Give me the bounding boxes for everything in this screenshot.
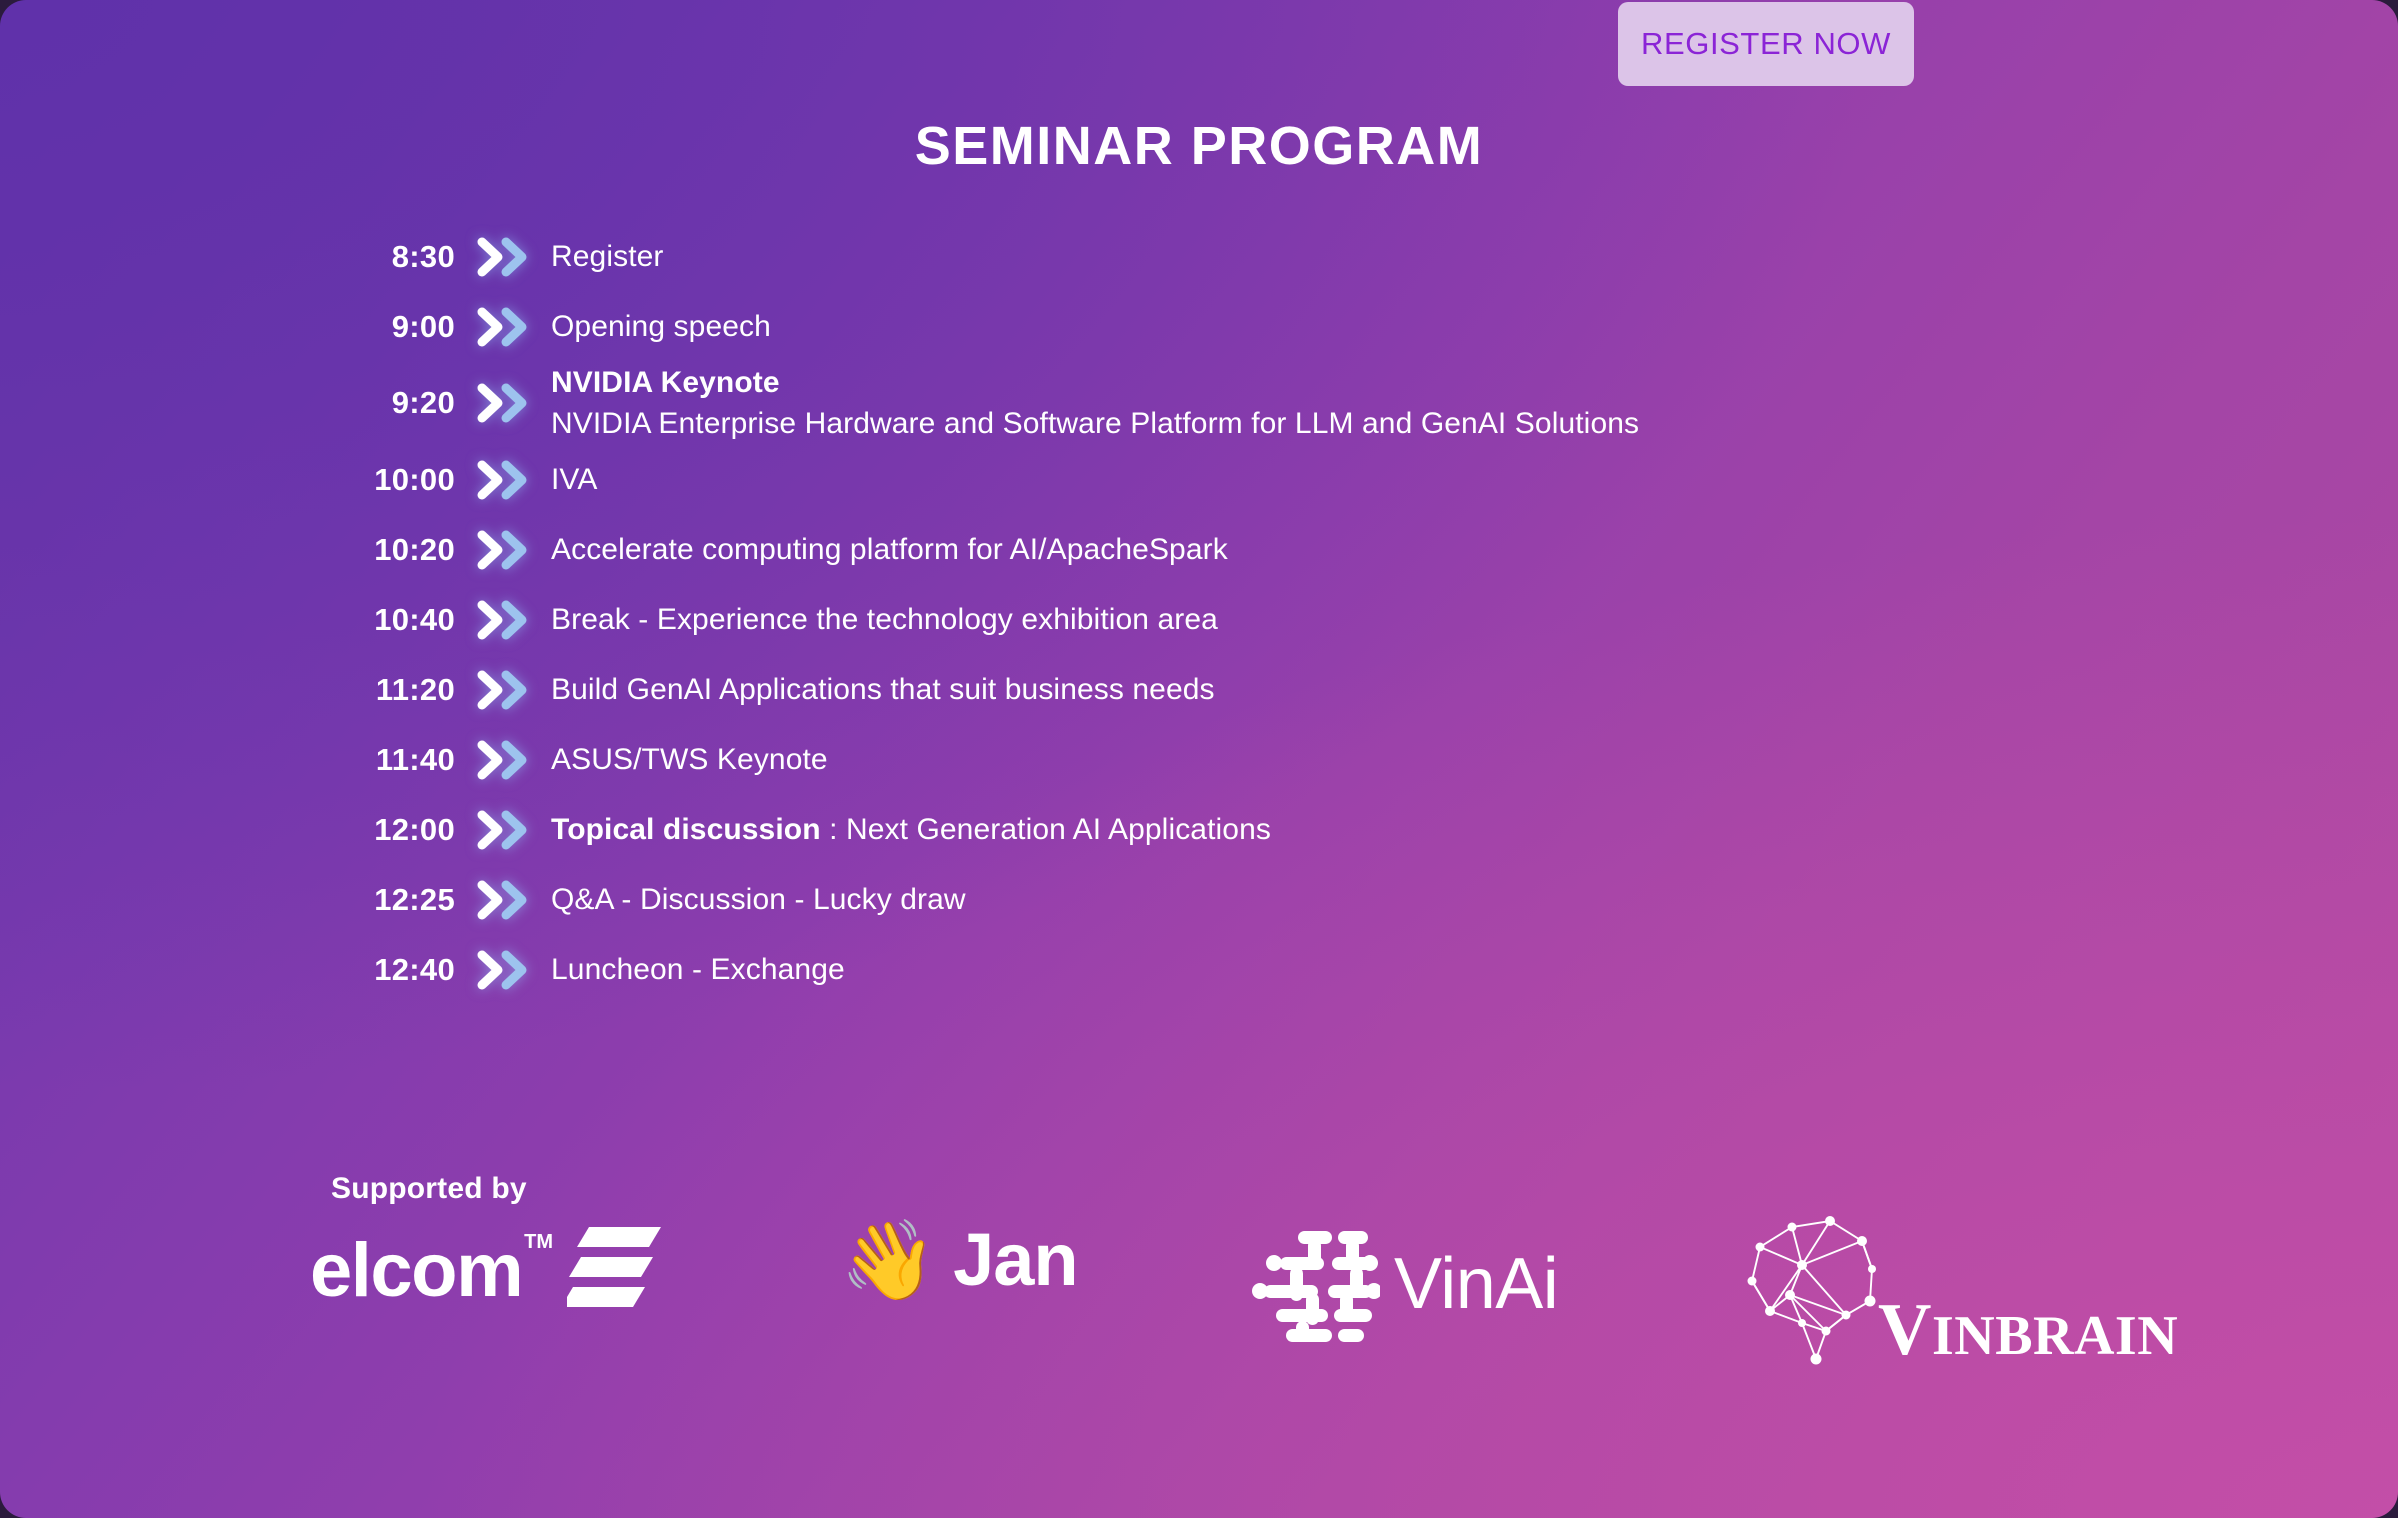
- schedule-row-time: 8:30: [330, 239, 455, 275]
- schedule-row-label: ASUS/TWS Keynote: [551, 743, 828, 776]
- schedule-row-time: 9:20: [330, 385, 455, 421]
- schedule-row-label: Build GenAI Applications that suit busin…: [551, 673, 1215, 706]
- schedule-row-text: Opening speech: [551, 306, 771, 347]
- schedule-row: 12:00Topical discussion : Next Generatio…: [330, 795, 2030, 865]
- double-chevron-icon: [455, 950, 551, 990]
- schedule-row-text: IVA: [551, 459, 597, 500]
- page-title: SEMINAR PROGRAM: [0, 115, 2398, 177]
- schedule-row-time: 10:20: [330, 532, 455, 568]
- schedule-row-time: 9:00: [330, 309, 455, 345]
- schedule-row: 9:20NVIDIA KeynoteNVIDIA Enterprise Hard…: [330, 362, 2030, 445]
- sponsor-logo-jan[interactable]: 👋 Jan: [840, 1221, 1078, 1299]
- schedule-row: 10:00IVA: [330, 445, 2030, 515]
- waving-hand-icon: 👋: [840, 1221, 937, 1299]
- schedule-row: 11:40ASUS/TWS Keynote: [330, 725, 2030, 795]
- schedule-row-time: 11:20: [330, 672, 455, 708]
- schedule-row-label: : Next Generation AI Applications: [821, 813, 1271, 846]
- schedule-row-label: Break - Experience the technology exhibi…: [551, 603, 1218, 636]
- trademark-icon: TM: [524, 1231, 553, 1254]
- double-chevron-icon: [455, 670, 551, 710]
- elcom-e-mark-icon: [567, 1225, 663, 1316]
- schedule-row-text: Break - Experience the technology exhibi…: [551, 599, 1218, 640]
- schedule-row: 11:20Build GenAI Applications that suit …: [330, 655, 2030, 725]
- schedule-row: 12:40Luncheon - Exchange: [330, 935, 2030, 1005]
- schedule-row-title: NVIDIA Keynote: [551, 362, 1639, 403]
- double-chevron-icon: [455, 810, 551, 850]
- sponsor-logo-vinbrain[interactable]: VINBRAIN: [1730, 1203, 2178, 1373]
- schedule-row-label: Accelerate computing platform for AI/Apa…: [551, 533, 1228, 566]
- schedule-row: 10:20Accelerate computing platform for A…: [330, 515, 2030, 585]
- schedule-row-label: IVA: [551, 463, 597, 496]
- elcom-wordmark: elcom: [310, 1233, 522, 1309]
- schedule-row-time: 10:00: [330, 462, 455, 498]
- jan-wordmark: Jan: [953, 1223, 1078, 1297]
- schedule-row-text: Topical discussion : Next Generation AI …: [551, 809, 1271, 850]
- schedule-row-text: ASUS/TWS Keynote: [551, 739, 828, 780]
- double-chevron-icon: [455, 237, 551, 277]
- schedule-row-label: Opening speech: [551, 310, 771, 343]
- schedule-row-text: Register: [551, 236, 664, 277]
- schedule-row-text: NVIDIA KeynoteNVIDIA Enterprise Hardware…: [551, 362, 1639, 445]
- sponsor-logo-elcom[interactable]: elcom TM: [310, 1225, 663, 1316]
- schedule-row-subtitle: NVIDIA Enterprise Hardware and Software …: [551, 403, 1639, 444]
- schedule-row-time: 11:40: [330, 742, 455, 778]
- brain-network-icon: [1730, 1203, 1900, 1373]
- schedule-list: 8:30Register9:00Opening speech9:20NVIDIA…: [330, 222, 2030, 1005]
- double-chevron-icon: [455, 880, 551, 920]
- schedule-row-text: Build GenAI Applications that suit busin…: [551, 669, 1215, 710]
- schedule-row: 9:00Opening speech: [330, 292, 2030, 362]
- double-chevron-icon: [455, 530, 551, 570]
- seminar-program-page: REGISTER NOW SEMINAR PROGRAM 8:30Registe…: [0, 0, 2398, 1518]
- vinbrain-wordmark: VINBRAIN: [1878, 1293, 2178, 1367]
- schedule-row-label: Luncheon - Exchange: [551, 953, 845, 986]
- double-chevron-icon: [455, 460, 551, 500]
- sponsor-logo-vinai[interactable]: VinAi: [1250, 1217, 1558, 1350]
- schedule-row-time: 12:25: [330, 882, 455, 918]
- schedule-row-time: 10:40: [330, 602, 455, 638]
- vinai-wordmark: VinAi: [1394, 1248, 1558, 1320]
- schedule-row-text: Luncheon - Exchange: [551, 949, 845, 990]
- schedule-row-time: 12:40: [330, 952, 455, 988]
- double-chevron-icon: [455, 307, 551, 347]
- supported-by-label: Supported by: [331, 1172, 527, 1206]
- schedule-row-label: Q&A - Discussion - Lucky draw: [551, 883, 966, 916]
- double-chevron-icon: [455, 383, 551, 423]
- schedule-row-text: Q&A - Discussion - Lucky draw: [551, 879, 966, 920]
- schedule-row: 12:25Q&A - Discussion - Lucky draw: [330, 865, 2030, 935]
- sponsor-logos: elcom TM 👋 Jan: [300, 1215, 2200, 1365]
- schedule-row: 8:30Register: [330, 222, 2030, 292]
- schedule-row-bold-prefix: Topical discussion: [551, 813, 821, 846]
- schedule-row-text: Accelerate computing platform for AI/Apa…: [551, 529, 1228, 570]
- double-chevron-icon: [455, 740, 551, 780]
- vinai-nodes-icon: [1250, 1217, 1380, 1350]
- schedule-row-time: 12:00: [330, 812, 455, 848]
- schedule-row: 10:40Break - Experience the technology e…: [330, 585, 2030, 655]
- double-chevron-icon: [455, 600, 551, 640]
- register-now-button[interactable]: REGISTER NOW: [1618, 2, 1914, 86]
- schedule-row-label: Register: [551, 240, 664, 273]
